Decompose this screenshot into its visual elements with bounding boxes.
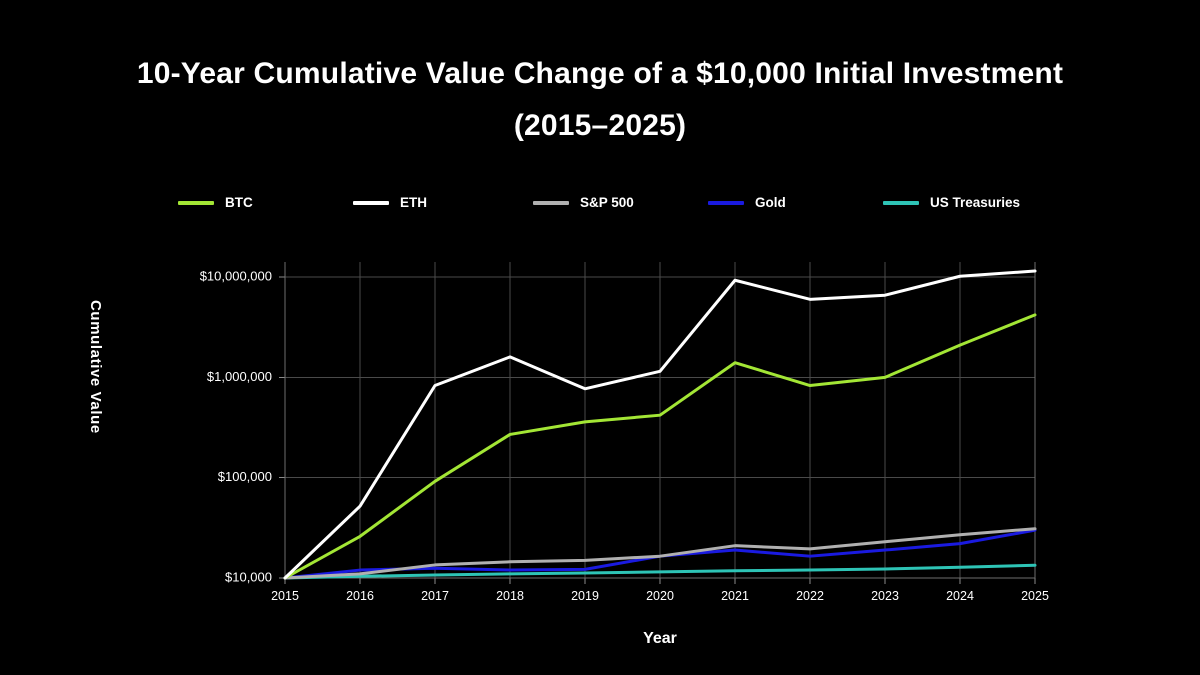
x-tick-label: 2021 [721,589,749,603]
chart-page: 10-Year Cumulative Value Change of a $10… [0,0,1200,675]
x-tick-label: 2025 [1021,589,1049,603]
y-tick-label: $10,000,000 [200,269,272,284]
line-chart: $10,000$100,000$1,000,000$10,000,0002015… [0,0,1200,675]
y-tick-label: $1,000,000 [207,369,272,384]
x-tick-label: 2018 [496,589,524,603]
x-tick-label: 2023 [871,589,899,603]
y-tick-label: $10,000 [225,569,272,584]
x-tick-label: 2024 [946,589,974,603]
x-tick-label: 2015 [271,589,299,603]
x-tick-label: 2022 [796,589,824,603]
plot-area: $10,000$100,000$1,000,000$10,000,0002015… [0,0,1200,675]
x-tick-label: 2019 [571,589,599,603]
y-tick-label: $100,000 [218,469,272,484]
x-tick-label: 2017 [421,589,449,603]
x-tick-label: 2020 [646,589,674,603]
x-tick-label: 2016 [346,589,374,603]
